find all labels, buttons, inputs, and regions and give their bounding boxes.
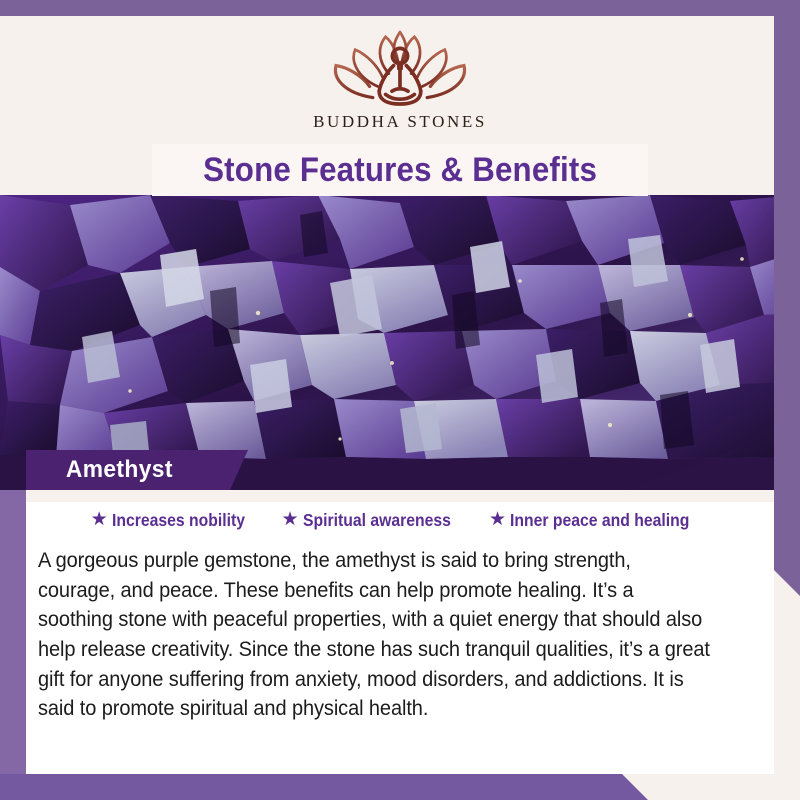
lotus-meditation-figure-icon — [320, 24, 480, 110]
amethyst-crystal-cluster-photo — [0, 195, 800, 490]
brand-header: BUDDHA STONES — [0, 16, 800, 144]
frame-left-border — [0, 490, 26, 800]
stone-name-banner: Amethyst — [26, 450, 248, 490]
benefits-list: ★ Increases nobility ★ Spiritual awarene… — [26, 510, 774, 531]
benefit-label: Spiritual awareness — [303, 510, 451, 531]
benefit-item: ★ Increases nobility — [91, 510, 260, 531]
brand-wordmark: BUDDHA STONES — [313, 112, 487, 132]
stone-description: A gorgeous purple gemstone, the amethyst… — [38, 546, 713, 724]
star-icon: ★ — [91, 510, 108, 529]
frame-top-border — [0, 0, 800, 16]
star-icon: ★ — [282, 510, 299, 529]
content-panel: ★ Increases nobility ★ Spiritual awarene… — [26, 490, 774, 774]
star-icon: ★ — [489, 510, 506, 529]
infographic-page: BUDDHA STONES Stone Features & Benefits — [0, 0, 800, 800]
frame-right-border — [774, 0, 800, 596]
benefit-item: ★ Spiritual awareness — [282, 510, 467, 531]
page-title: Stone Features & Benefits — [203, 151, 597, 190]
stone-name: Amethyst — [30, 456, 173, 484]
benefit-label: Increases nobility — [112, 510, 245, 531]
panel-top-strip — [26, 490, 774, 502]
title-band: Stone Features & Benefits — [152, 144, 648, 196]
benefit-label: Inner peace and healing — [510, 510, 689, 531]
benefit-item: ★ Inner peace and healing — [489, 510, 709, 531]
frame-bottom-border — [0, 774, 648, 800]
